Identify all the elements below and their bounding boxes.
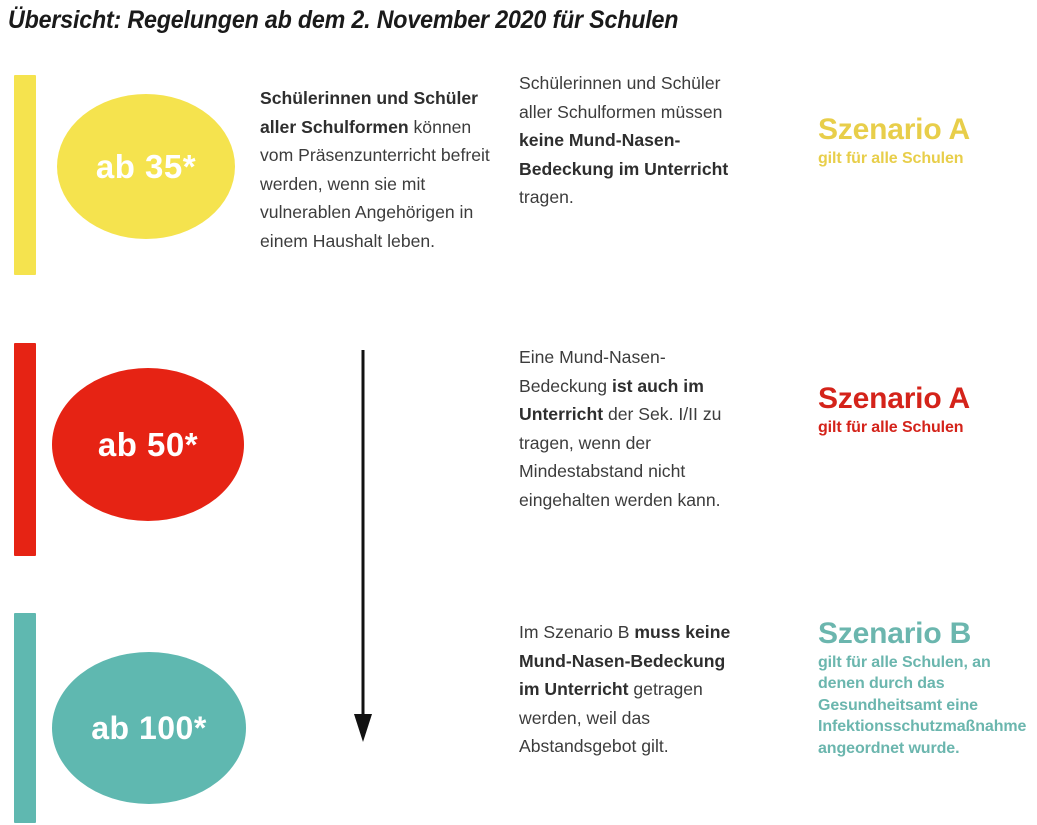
rule-text-secondary: Im Szenario B muss keine Mund-Nasen-Bede… (519, 618, 745, 761)
scenario-note: gilt für alle Schulen (818, 417, 1033, 439)
rule-text-secondary: Schülerinnen und Schüler aller Schulform… (519, 69, 751, 212)
scenario-note: gilt für alle Schulen (818, 148, 1033, 170)
scenario-block-red: Szenario A gilt für alle Schulen (818, 383, 1033, 438)
scenario-title: Szenario B (818, 618, 1033, 650)
incidence-bar-teal (14, 613, 36, 823)
threshold-ellipse-red: ab 50* (52, 368, 244, 521)
rule-row-red: ab 50* Eine Mund-Nasen-Bedeckung ist auc… (0, 340, 1037, 590)
incidence-bar-yellow (14, 75, 36, 275)
page-title: Übersicht: Regelungen ab dem 2. November… (8, 6, 938, 35)
scenario-title: Szenario A (818, 114, 1033, 146)
threshold-label: ab 35* (96, 150, 196, 183)
threshold-label: ab 50* (98, 428, 198, 461)
rule-row-yellow: ab 35* Schülerinnen und Schüler aller Sc… (0, 72, 1037, 322)
scenario-title: Szenario A (818, 383, 1033, 415)
scenario-block-teal: Szenario B gilt für alle Schulen, an den… (818, 618, 1033, 759)
scenario-note: gilt für alle Schulen, an denen durch da… (818, 652, 1033, 760)
rule-text-primary: Schülerinnen und Schüler aller Schulform… (260, 84, 492, 255)
threshold-ellipse-teal: ab 100* (52, 652, 246, 804)
rule-text-secondary: Eine Mund-Nasen-Bedeckung ist auch im Un… (519, 343, 745, 514)
scenario-block-yellow: Szenario A gilt für alle Schulen (818, 114, 1033, 169)
threshold-label: ab 100* (91, 712, 207, 744)
incidence-bar-red (14, 343, 36, 556)
rule-row-teal: ab 100* Im Szenario B muss keine Mund-Na… (0, 610, 1037, 825)
threshold-ellipse-yellow: ab 35* (57, 94, 235, 239)
